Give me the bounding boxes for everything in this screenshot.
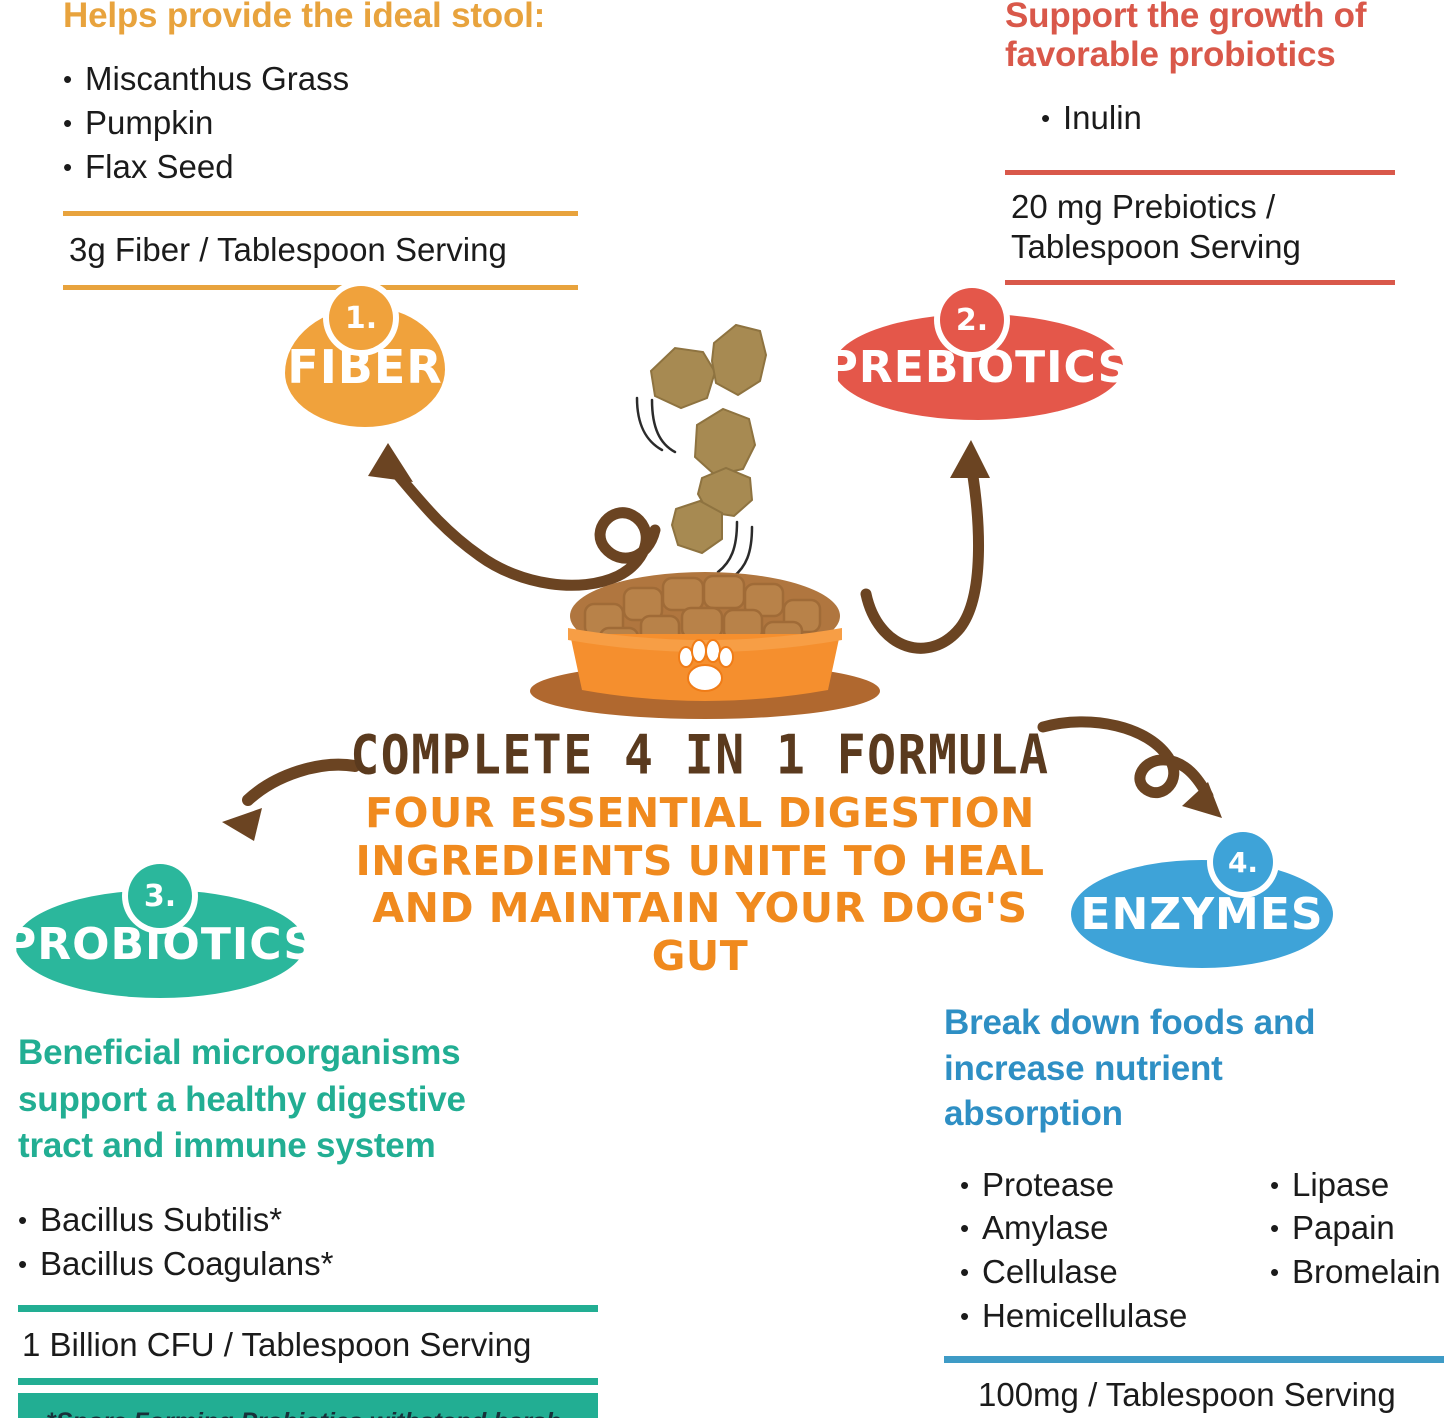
infographic-root: Helps provide the ideal stool: Miscanthu… [0,0,1445,1418]
badge-prebiotics-number: 2. [940,288,1004,352]
enzymes-list-left: Protease Amylase Cellulase Hemicellulase [944,1163,1254,1339]
probiotics-rule-top [18,1305,598,1312]
center-subheadline-line2: INGREDIENTS UNITE TO HEAL [350,838,1050,886]
list-item: Bacillus Subtilis* [18,1198,598,1242]
badge-enzymes-number: 4. [1213,832,1273,892]
badge-fiber-number: 1. [329,286,393,350]
page-title: COMPLETE 4 IN 1 FORMULA [350,728,1050,783]
prebiotics-serving-line2: Tablespoon Serving [1011,227,1389,267]
badge-fiber: FIBER 1. [285,292,445,427]
badge-enzymes-label: ENZYMES [1080,889,1323,940]
list-item: Cellulase [944,1250,1254,1294]
fiber-serving-text: 3g Fiber / Tablespoon Serving [63,216,578,286]
prebiotics-rule-bottom [1005,280,1395,285]
prebiotics-heading-line2: favorable probiotics [1005,35,1395,74]
enzymes-list-right: Lipase Papain Bromelain [1254,1163,1441,1339]
list-item: Bacillus Coagulans* [18,1242,598,1286]
center-headline-block: COMPLETE 4 IN 1 FORMULA FOUR ESSENTIAL D… [350,728,1050,980]
badge-enzymes: ENZYMES 4. [1071,838,1333,968]
fiber-rule-bottom [63,285,578,290]
list-item: Amylase [944,1206,1254,1250]
fiber-section: Helps provide the ideal stool: Miscanthu… [63,0,578,290]
enzymes-heading-line2: increase nutrient [944,1046,1444,1092]
probiotics-section: Beneficial microorganisms support a heal… [18,1030,598,1418]
probiotics-ingredient-list: Bacillus Subtilis* Bacillus Coagulans* [18,1198,598,1286]
enzymes-heading-line3: absorption [944,1091,1444,1137]
kibble-pile [570,572,840,672]
probiotics-heading-line2: support a healthy digestive [18,1077,598,1124]
center-subheadline-line3: AND MAINTAIN YOUR DOG'S GUT [350,885,1050,980]
prebiotics-ingredient-list: Inulin [1005,96,1395,140]
dog-bowl [530,572,880,719]
enzymes-serving-text: 100mg / Tablespoon Serving [944,1363,1444,1418]
badge-prebiotics: PREBIOTICS 2. [833,292,1123,422]
fiber-heading: Helps provide the ideal stool: [63,0,578,35]
probiotics-footnote: *Spore Forming Probiotics withstand hars… [18,1393,598,1418]
badge-probiotics: PROBIOTICS 3. [15,868,305,998]
paw-print-icon [679,640,733,691]
fiber-ingredient-list: Miscanthus Grass Pumpkin Flax Seed [63,57,578,189]
list-item: Bromelain [1254,1250,1441,1294]
probiotics-rule-bottom [18,1378,598,1385]
list-item: Pumpkin [63,101,578,145]
center-subheadline-line1: FOUR ESSENTIAL DIGESTION [350,790,1050,838]
enzymes-section: Break down foods and increase nutrient a… [944,1000,1444,1418]
probiotics-heading-line1: Beneficial microorganisms [18,1030,598,1077]
prebiotics-serving-line1: 20 mg Prebiotics / [1011,187,1389,227]
enzymes-ingredient-columns: Protease Amylase Cellulase Hemicellulase… [944,1163,1444,1339]
prebiotics-serving-text: 20 mg Prebiotics / Tablespoon Serving [1005,175,1395,280]
badge-enzymes-blob: ENZYMES [1071,860,1333,968]
probiotics-heading-line3: tract and immune system [18,1123,598,1170]
list-item: Inulin [1041,96,1395,140]
prebiotics-heading-line1: Support the growth of [1005,0,1395,35]
badge-probiotics-number: 3. [128,864,192,928]
falling-kibble [651,325,766,553]
enzymes-heading-line1: Break down foods and [944,1000,1444,1046]
prebiotics-section: Support the growth of favorable probioti… [1005,0,1395,285]
probiotics-serving-text: 1 Billion CFU / Tablespoon Serving [18,1312,598,1378]
arrow-to-fiber [368,443,655,585]
arrow-to-probiotics [222,765,355,841]
probiotics-footnote-line1: *Spore Forming Probiotics withstand hars… [46,1406,584,1418]
center-subheadline: FOUR ESSENTIAL DIGESTION INGREDIENTS UNI… [350,790,1050,980]
list-item: Flax Seed [63,145,578,189]
list-item: Lipase [1254,1163,1441,1207]
list-item: Protease [944,1163,1254,1207]
arrow-to-prebiotics [866,440,990,648]
list-item: Miscanthus Grass [63,57,578,101]
list-item: Papain [1254,1206,1441,1250]
motion-arcs [637,398,752,577]
enzymes-rule-top [944,1356,1444,1363]
list-item: Hemicellulase [944,1294,1254,1338]
arrow-to-enzymes [1043,722,1222,818]
